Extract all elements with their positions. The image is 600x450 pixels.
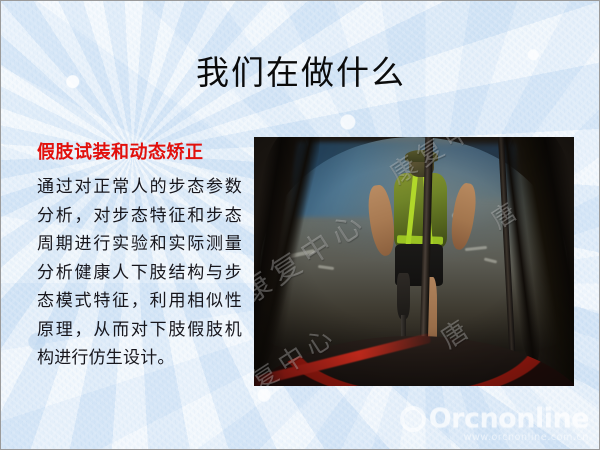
brand-watermark: Orcnonline www.orcnonline.com.cn <box>400 405 589 443</box>
photo-scene: 康复中心 康复中 康复中心 唐 唐 <box>254 137 574 386</box>
brand-watermark-row: Orcnonline <box>400 405 589 433</box>
cap <box>405 150 438 163</box>
brand-watermark-name: Orcnonline <box>429 405 589 433</box>
circle-logo-icon <box>400 406 426 432</box>
content-photo: 康复中心 康复中 康复中心 唐 唐 <box>254 137 574 386</box>
body-paragraph: 通过对正常人的步态参数分析，对步态特征和步态周期进行实验和实际测量分析健康人下肢… <box>37 173 242 373</box>
page-title: 我们在做什么 <box>1 53 600 93</box>
prosthetic-socket <box>397 273 409 319</box>
slide-canvas: 我们在做什么 假肢试装和动态矫正 通过对正常人的步态参数分析，对步态特征和步态周… <box>0 0 600 450</box>
text-column: 假肢试装和动态矫正 通过对正常人的步态参数分析，对步态特征和步态周期进行实验和实… <box>37 141 242 373</box>
section-sub-heading: 假肢试装和动态矫正 <box>37 141 242 165</box>
brand-watermark-url: www.orcnonline.com.cn <box>400 432 589 443</box>
